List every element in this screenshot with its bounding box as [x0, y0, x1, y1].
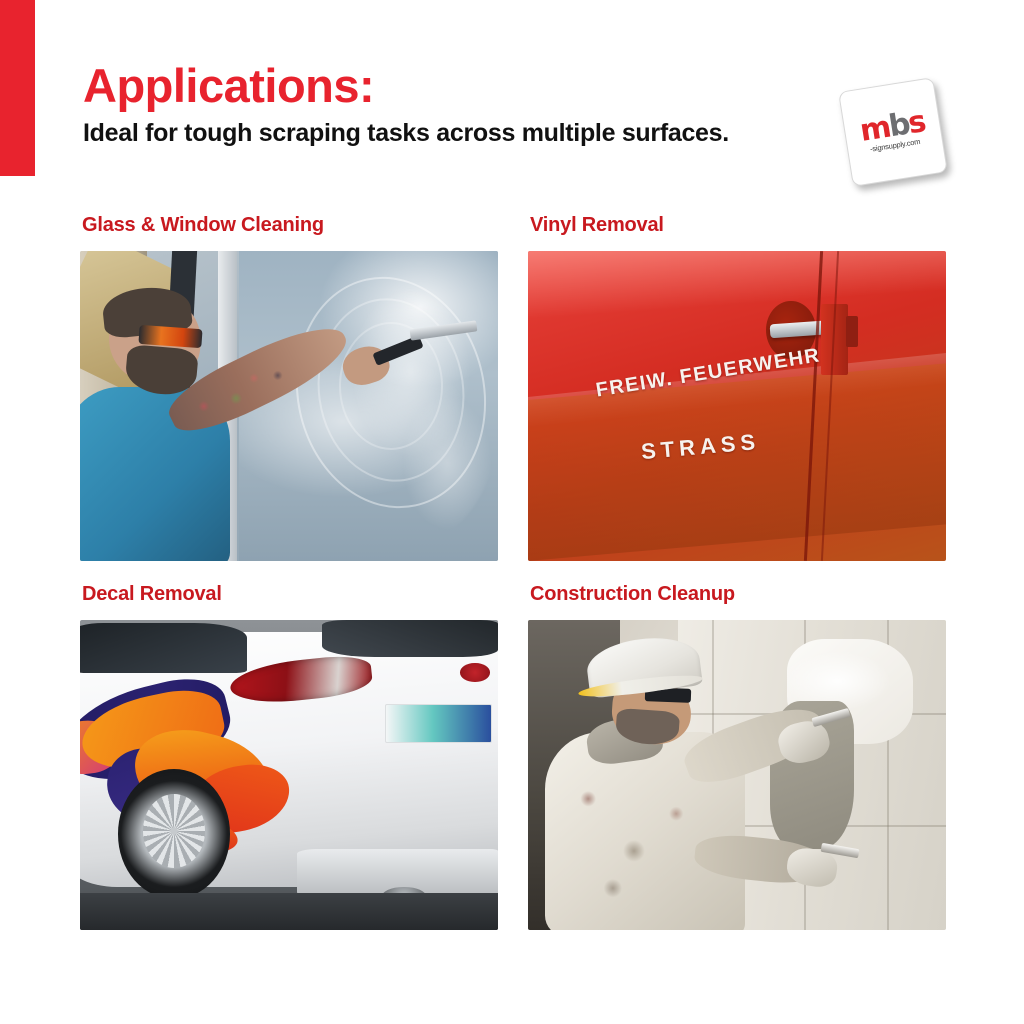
application-cell-construction-cleanup: Construction Cleanup	[528, 583, 946, 930]
logo-letter-s: s	[906, 104, 927, 141]
car-window-rear	[322, 620, 498, 657]
infographic-page: Applications: Ideal for tough scraping t…	[0, 0, 1024, 1024]
application-cell-vinyl-removal: Vinyl Removal FREIW. FEUERWEHR STRASS	[528, 214, 946, 561]
photo-decal-removal	[80, 620, 498, 930]
cell-heading: Construction Cleanup	[530, 583, 946, 606]
logo-wordmark: mbs	[858, 109, 926, 144]
applications-grid: Glass & Window Cleaning	[80, 214, 946, 930]
photo-glass-window-cleaning	[80, 251, 498, 561]
photo-vinyl-removal: FREIW. FEUERWEHR STRASS	[528, 251, 946, 561]
logo-card: mbs -signsupply.com	[838, 77, 948, 187]
cell-heading: Decal Removal	[82, 583, 498, 606]
cell-heading: Vinyl Removal	[530, 214, 946, 237]
photo-construction-cleanup	[528, 620, 946, 930]
wheel-rim	[143, 794, 206, 868]
squeegee-swirl-icon	[339, 322, 443, 450]
door-highlight-top	[528, 251, 946, 319]
ground-surface	[80, 893, 498, 930]
header: Applications: Ideal for tough scraping t…	[83, 62, 843, 148]
door-hinge-bolt	[846, 316, 859, 347]
page-title: Applications:	[83, 62, 843, 109]
application-cell-decal-removal: Decal Removal	[80, 583, 498, 930]
license-plate	[385, 704, 492, 743]
car-badge	[460, 663, 489, 682]
page-subtitle: Ideal for tough scraping tasks across mu…	[83, 119, 843, 148]
left-accent-bar	[0, 0, 35, 176]
brand-logo[interactable]: mbs -signsupply.com	[845, 84, 941, 180]
car-window-rear-left	[80, 623, 247, 673]
application-cell-glass-window-cleaning: Glass & Window Cleaning	[80, 214, 498, 561]
cell-heading: Glass & Window Cleaning	[82, 214, 498, 237]
